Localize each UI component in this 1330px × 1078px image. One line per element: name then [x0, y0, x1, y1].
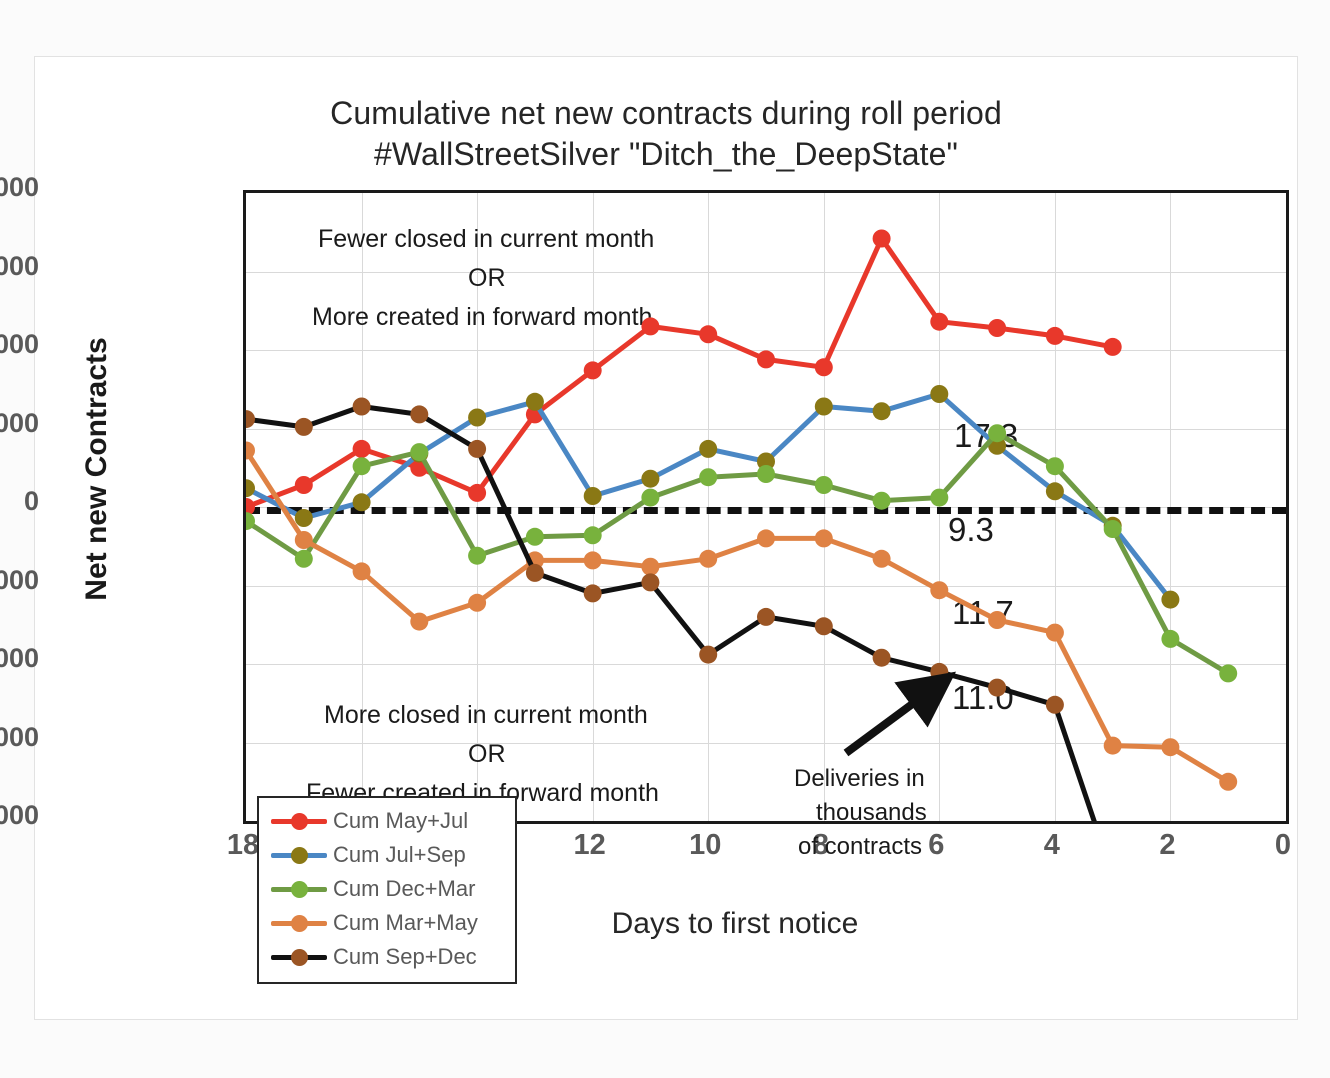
delivery-arrow-icon: [246, 193, 1286, 821]
legend-item-label: Cum Jul+Sep: [333, 842, 466, 868]
legend-item-label: Cum Sep+Dec: [333, 944, 477, 970]
legend-marker-dot: [291, 813, 308, 830]
legend-item[interactable]: Cum Mar+May: [259, 906, 515, 940]
y-tick-label: -10,000: [0, 643, 39, 674]
y-tick-label: 10,000: [0, 329, 39, 360]
legend-marker-dot: [291, 847, 308, 864]
legend-line-swatch: [271, 819, 327, 824]
y-tick-label: -20,000: [0, 800, 39, 831]
y-tick-label: 5,000: [0, 408, 39, 439]
chart-title: Cumulative net new contracts during roll…: [35, 93, 1297, 175]
callout-line3: of contracts: [798, 833, 922, 861]
chart-subtitle: #WallStreetSilver "Ditch_the_DeepState": [35, 134, 1297, 175]
y-axis-title: Net new Contracts: [80, 319, 114, 619]
x-tick-label: 12: [560, 829, 620, 862]
y-tick-label: 20,000: [0, 172, 39, 203]
legend-item-label: Cum May+Jul: [333, 808, 468, 834]
chart-card: Cumulative net new contracts during roll…: [34, 56, 1298, 1020]
legend-item-label: Cum Mar+May: [333, 910, 478, 936]
y-tick-label: 15,000: [0, 251, 39, 282]
x-tick-label: 0: [1253, 829, 1313, 862]
x-tick-label: 4: [1022, 829, 1082, 862]
legend-line-swatch: [271, 955, 327, 960]
y-tick-label: 0: [0, 486, 39, 517]
legend-marker-dot: [291, 949, 308, 966]
legend-item[interactable]: Cum Jul+Sep: [259, 838, 515, 872]
x-tick-label: 10: [675, 829, 735, 862]
legend-item[interactable]: Cum Sep+Dec: [259, 940, 515, 974]
screenshot-frame: Cumulative net new contracts during roll…: [0, 0, 1330, 1078]
legend-line-swatch: [271, 921, 327, 926]
legend-marker-dot: [291, 915, 308, 932]
legend-marker-dot: [291, 881, 308, 898]
legend-line-swatch: [271, 853, 327, 858]
plot-area: Fewer closed in current month OR More cr…: [243, 190, 1289, 824]
y-tick-label: -15,000: [0, 722, 39, 753]
legend-item[interactable]: Cum May+Jul: [259, 804, 515, 838]
legend-item-label: Cum Dec+Mar: [333, 876, 475, 902]
legend-line-swatch: [271, 887, 327, 892]
chart-title-line1: Cumulative net new contracts during roll…: [330, 95, 1002, 131]
legend-item[interactable]: Cum Dec+Mar: [259, 872, 515, 906]
x-tick-label: 2: [1137, 829, 1197, 862]
legend[interactable]: Cum May+JulCum Jul+SepCum Dec+MarCum Mar…: [257, 796, 517, 984]
y-tick-label: -5,000: [0, 565, 39, 596]
